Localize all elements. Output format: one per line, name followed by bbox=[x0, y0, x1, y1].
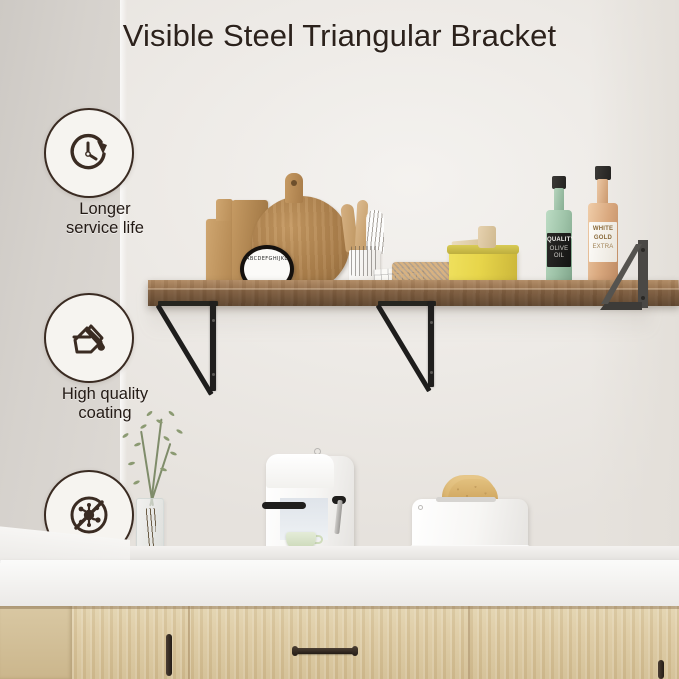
page-title: Visible Steel Triangular Bracket bbox=[0, 18, 679, 54]
toaster-slot bbox=[436, 497, 496, 502]
cabinet-handle-right[interactable] bbox=[658, 660, 664, 679]
round-board-handle bbox=[285, 173, 303, 203]
feature-label-line2: service life bbox=[20, 219, 190, 238]
green-bottle: QUALITY OLIVE OIL bbox=[546, 176, 572, 293]
lower-cabinets[interactable] bbox=[0, 606, 679, 679]
paint-bucket-icon bbox=[61, 310, 117, 366]
bracket-screw-bottom bbox=[430, 371, 433, 374]
bracket-screw-top bbox=[212, 319, 215, 322]
feature-label-line1: Longer bbox=[20, 200, 190, 219]
bracket-profile-icon bbox=[598, 238, 652, 314]
bracket-diagonal-brace bbox=[376, 304, 432, 392]
cabinet-seam-1 bbox=[188, 606, 190, 679]
cabinet-left-return-panel[interactable] bbox=[0, 606, 72, 679]
espresso-portafilter bbox=[262, 502, 306, 509]
bracket-wall-arm bbox=[210, 301, 216, 391]
triangular-bracket-right bbox=[598, 238, 652, 314]
amber-label-line1: WHITE bbox=[589, 226, 617, 233]
espresso-machine bbox=[258, 440, 354, 562]
bracket-diagonal-brace bbox=[156, 304, 214, 396]
yellow-container-knob bbox=[478, 226, 496, 248]
bracket-screw-top bbox=[430, 321, 433, 324]
cabinet-handle-left[interactable] bbox=[166, 634, 172, 676]
toaster-lever bbox=[418, 505, 423, 510]
green-bottle-label: QUALITY OLIVE OIL bbox=[547, 233, 571, 267]
cabinet-handle-center[interactable] bbox=[295, 648, 355, 654]
toaster-body bbox=[412, 499, 528, 551]
feature-badge-longer-service-life bbox=[44, 108, 134, 198]
cabinet-top-rail bbox=[0, 606, 679, 609]
bracket-wall-arm bbox=[428, 301, 434, 387]
green-label-line2: OLIVE OIL bbox=[547, 246, 571, 260]
amber-bottle-cap bbox=[595, 166, 611, 180]
bracket-top-arm bbox=[158, 301, 218, 306]
cabinet-seam-2 bbox=[468, 606, 470, 679]
espresso-top-cover bbox=[266, 454, 334, 488]
bracket-screw-bottom bbox=[212, 373, 215, 376]
plate-letters: ABCDEFGHIJKLMNOPQRSTUVWXYZ bbox=[246, 256, 288, 262]
feature-badge-high-quality-coating bbox=[44, 293, 134, 383]
round-board-hole bbox=[291, 180, 297, 186]
green-label-line1: QUALITY bbox=[547, 237, 571, 244]
triangular-bracket-left bbox=[158, 301, 220, 393]
cabinet-wood-grain bbox=[0, 606, 679, 679]
clock-arrow-icon bbox=[61, 125, 117, 181]
triangular-bracket-middle bbox=[378, 301, 440, 389]
feature-label-longer-service-life: Longer service life bbox=[20, 200, 190, 238]
feature-label-line2: coating bbox=[20, 404, 190, 423]
product-feature-image: Visible Steel Triangular Bracket Longer … bbox=[0, 0, 679, 679]
